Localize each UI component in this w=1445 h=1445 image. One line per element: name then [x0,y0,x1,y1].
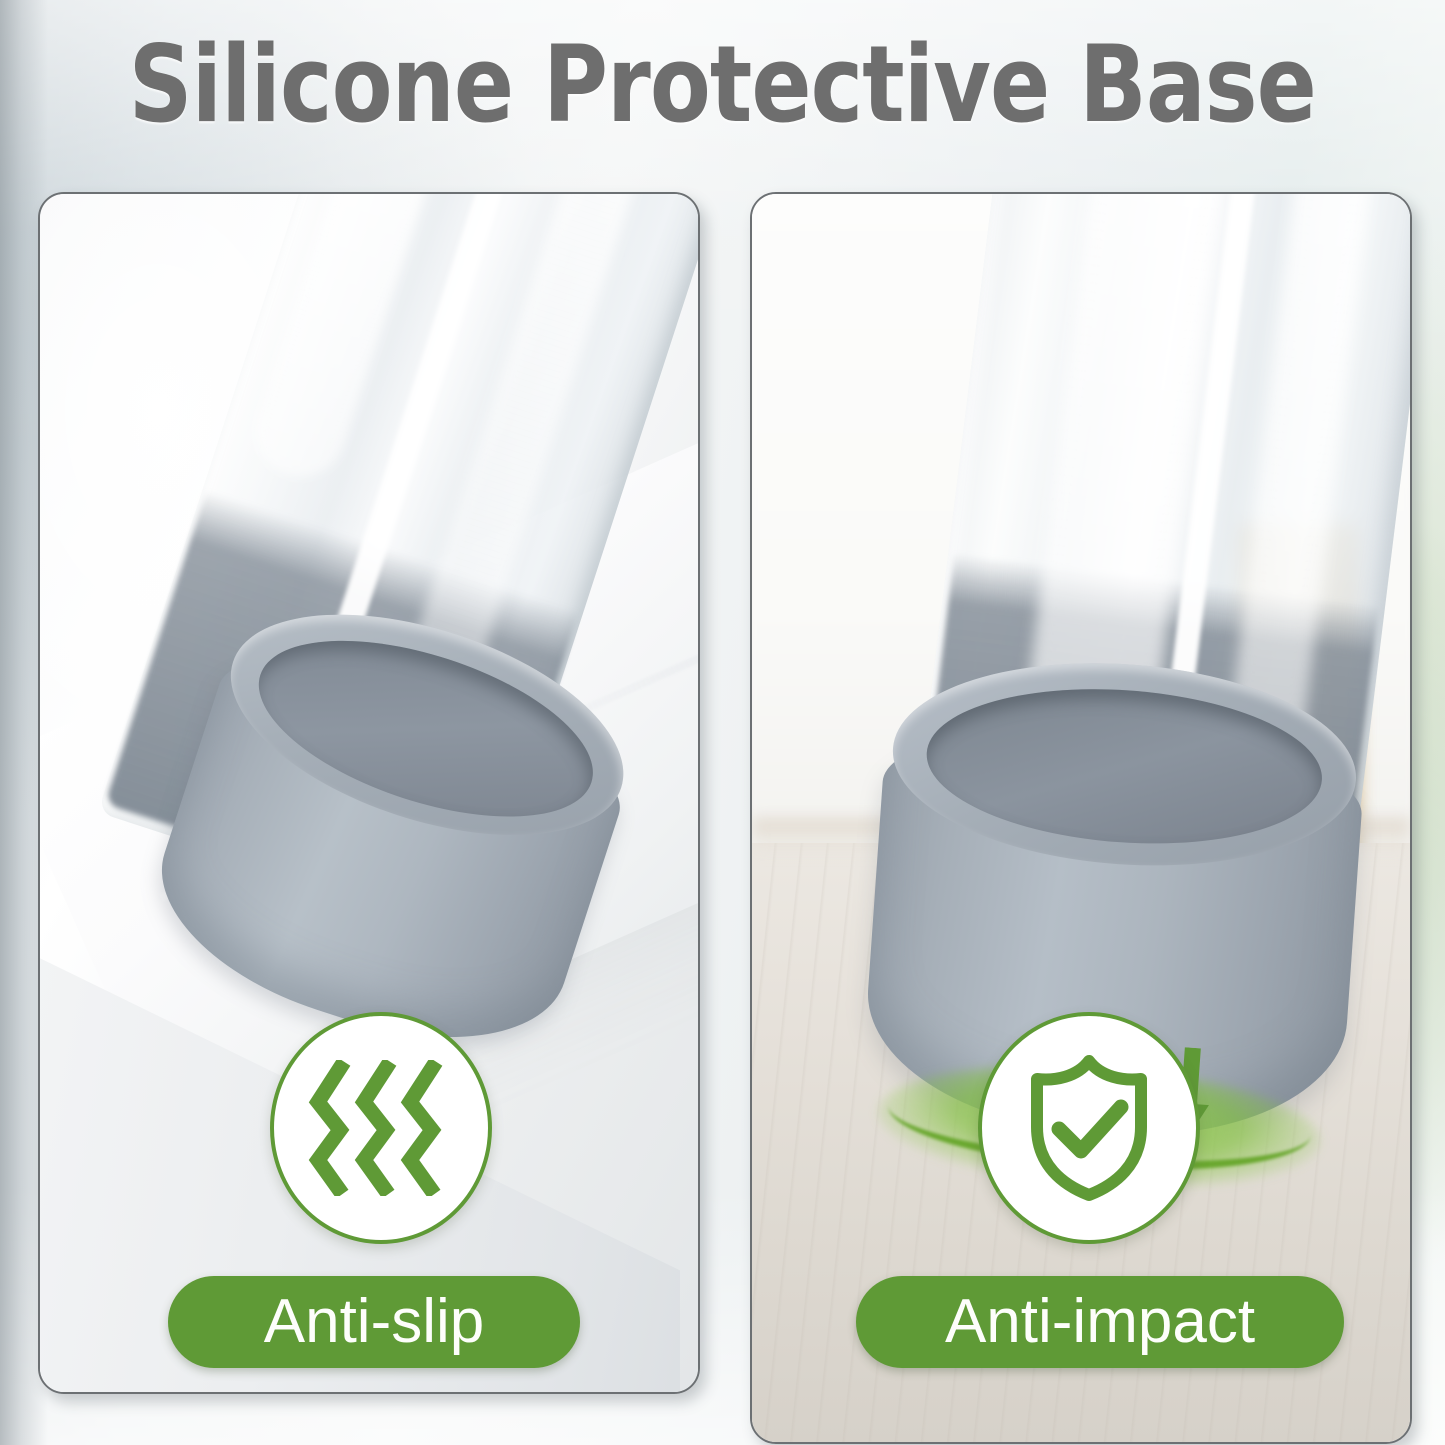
zigzag-waves-icon [306,1060,456,1196]
badge-circle-anti-slip [270,1012,492,1244]
panel-photo-anti-impact [752,194,1410,1442]
feature-label-text: Anti-impact [945,1291,1255,1353]
badge-circle-anti-impact [978,1012,1200,1244]
feature-label-anti-impact: Anti-impact [856,1276,1344,1368]
feature-label-anti-slip: Anti-slip [168,1276,580,1368]
page-title: Silicone Protective Base [0,24,1445,144]
product-feature-poster: Silicone Protective Base [0,0,1445,1445]
shield-check-icon [1019,1053,1159,1203]
page-title-text: Silicone Protective Base [129,23,1316,146]
feature-label-text: Anti-slip [264,1291,485,1353]
feature-panel-anti-impact [750,192,1412,1444]
